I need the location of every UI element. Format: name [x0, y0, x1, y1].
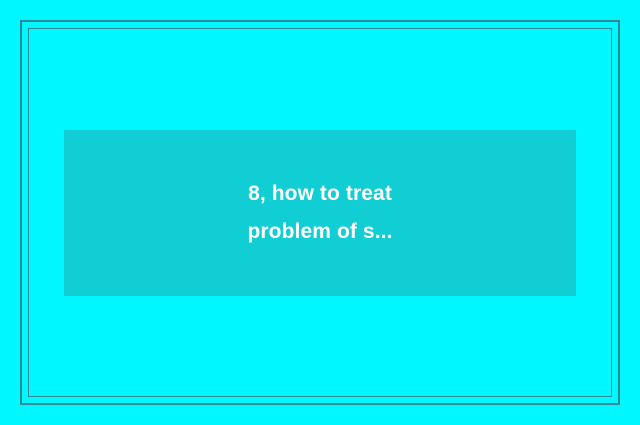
graphic-canvas: 8, how to treat problem of s... [0, 0, 640, 425]
headline-panel: 8, how to treat problem of s... [64, 130, 576, 296]
headline-text: 8, how to treat problem of s... [231, 175, 408, 251]
